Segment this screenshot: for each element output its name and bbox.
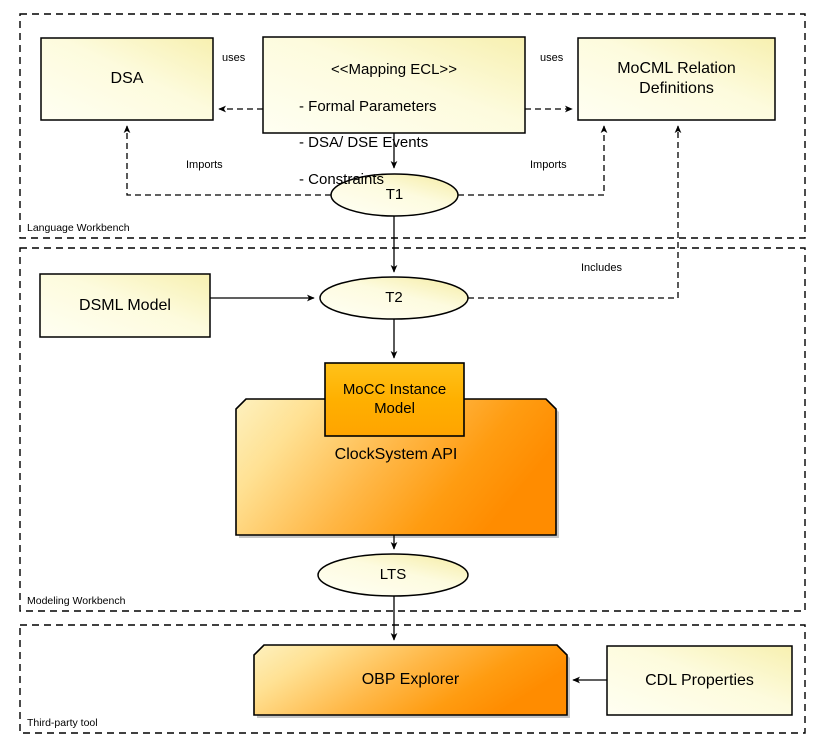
node-t1[interactable] (331, 174, 458, 216)
edge-t1-imports-dsa (127, 126, 331, 195)
node-mocml-relation-definitions[interactable] (578, 38, 775, 120)
group-label-modeling-workbench: Modeling Workbench (27, 595, 125, 607)
edge-label-ecl-uses-dsa: uses (222, 52, 245, 64)
edge-label-ecl-uses-mocml: uses (540, 52, 563, 64)
group-label-language-workbench: Language Workbench (27, 222, 130, 234)
edge-t2-includes-mocml (468, 126, 678, 298)
node-cdl-properties[interactable] (607, 646, 792, 715)
node-dsa[interactable] (41, 38, 213, 120)
group-label-third-party-tool: Third-party tool (27, 717, 98, 729)
node-mocc-instance-model[interactable] (325, 363, 464, 436)
edge-label-t2-includes-mocml: Includes (581, 262, 622, 274)
edge-label-t1-imports-dsa: Imports (186, 159, 223, 171)
diagram-canvas: DSA <<Mapping ECL>> - Formal Parameters … (0, 0, 821, 746)
node-lts[interactable] (318, 554, 468, 596)
diagram-graphics-layer (0, 0, 821, 746)
node-obp-explorer[interactable] (254, 645, 570, 718)
node-t2[interactable] (320, 277, 468, 319)
node-mapping-ecl[interactable] (263, 37, 525, 133)
edge-label-t1-imports-mocml: Imports (530, 159, 567, 171)
node-dsml-model[interactable] (40, 274, 210, 337)
